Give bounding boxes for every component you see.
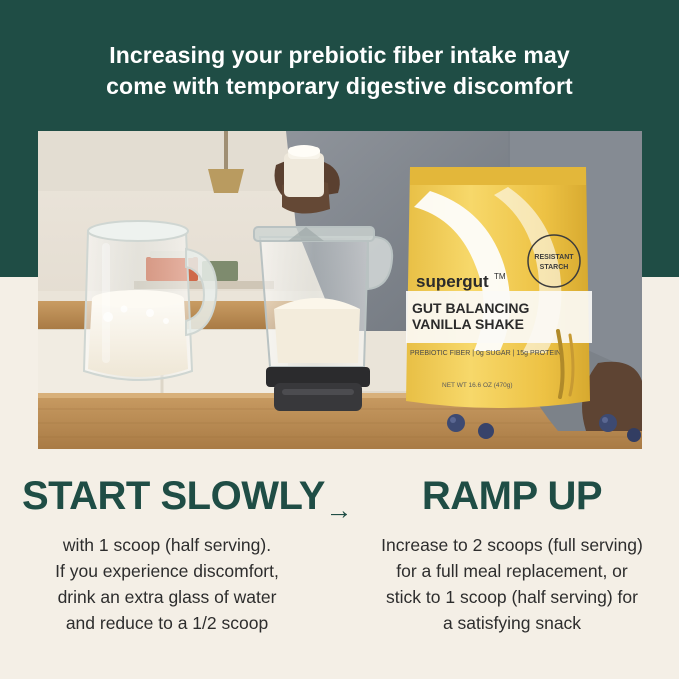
page-title-line-1: Increasing your prebiotic fiber intake m… — [109, 42, 570, 68]
product-photo: supergut TM GUT BALANCING VANILLA SHAKE … — [38, 131, 642, 449]
svg-text:VANILLA SHAKE: VANILLA SHAKE — [412, 316, 524, 332]
ramp-up-body: Increase to 2 scoops (full serving) for … — [367, 532, 657, 636]
ramp-up-headline: RAMP UP — [367, 474, 657, 518]
page-title-line-2: come with temporary digestive discomfort — [40, 71, 639, 102]
start-slowly-line-2: If you experience discomfort, — [22, 558, 312, 584]
svg-text:RESISTANT: RESISTANT — [534, 254, 574, 261]
ramp-up-line-1: Increase to 2 scoops (full serving) — [367, 532, 657, 558]
svg-text:GUT BALANCING: GUT BALANCING — [412, 300, 530, 316]
svg-text:PREBIOTIC FIBER | 0g SUGAR | 1: PREBIOTIC FIBER | 0g SUGAR | 15g PROTEIN — [410, 350, 561, 357]
ramp-up-line-4: a satisfying snack — [367, 610, 657, 636]
start-slowly-headline: START SLOWLY — [22, 474, 312, 518]
start-slowly-line-4: and reduce to a 1/2 scoop — [22, 610, 312, 636]
svg-text:NET WT 16.6 OZ (470g): NET WT 16.6 OZ (470g) — [442, 382, 513, 389]
arrow-right-icon: → — [319, 497, 359, 524]
instruction-column-ramp-up: RAMP UP Increase to 2 scoops (full servi… — [367, 474, 657, 636]
svg-text:STARCH: STARCH — [540, 264, 569, 271]
instruction-column-start-slowly: START SLOWLY with 1 scoop (half serving)… — [22, 474, 312, 636]
start-slowly-body: with 1 scoop (half serving). If you expe… — [22, 532, 312, 636]
start-slowly-line-3: drink an extra glass of water — [22, 584, 312, 610]
svg-text:supergut: supergut — [416, 272, 489, 291]
photo-illustration: supergut TM GUT BALANCING VANILLA SHAKE … — [38, 131, 642, 449]
infographic-card: Increasing your prebiotic fiber intake m… — [0, 0, 679, 679]
page-title: Increasing your prebiotic fiber intake m… — [0, 40, 679, 102]
svg-text:TM: TM — [494, 272, 506, 281]
instructions-section: START SLOWLY with 1 scoop (half serving)… — [0, 449, 679, 679]
ramp-up-line-3: stick to 1 scoop (half serving) for — [367, 584, 657, 610]
ramp-up-line-2: for a full meal replacement, or — [367, 558, 657, 584]
start-slowly-line-1: with 1 scoop (half serving). — [22, 532, 312, 558]
